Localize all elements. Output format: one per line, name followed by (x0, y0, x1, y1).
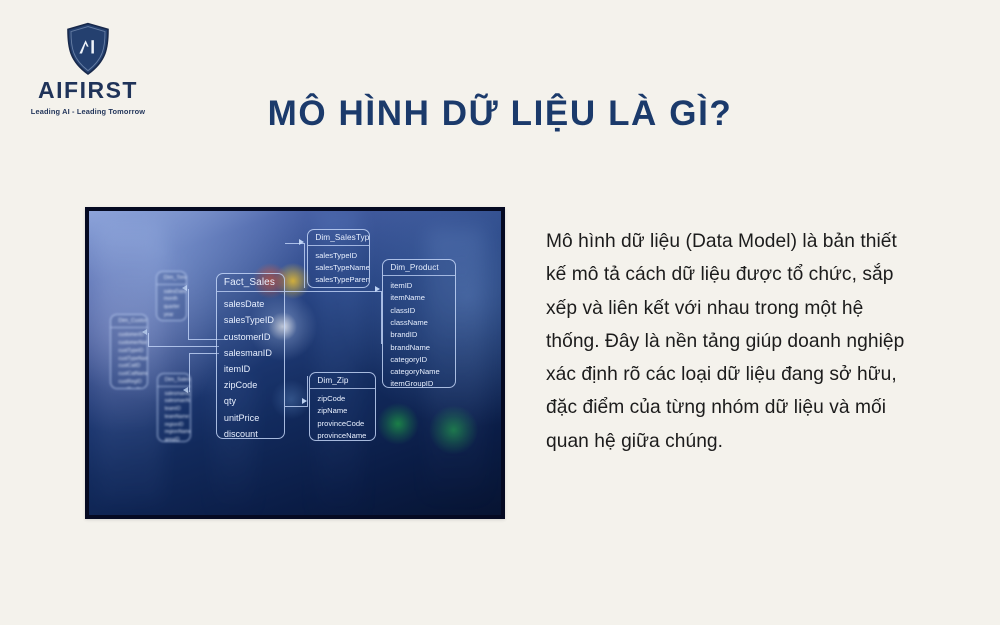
shield-icon (65, 22, 111, 76)
field: categoryName (390, 366, 448, 378)
table-name: Dim_Customer (111, 315, 146, 328)
field: custTypeID (118, 348, 140, 356)
field: qty (224, 393, 278, 409)
table-name: Dim_SalesType (308, 230, 369, 246)
field: month (164, 296, 180, 304)
table-fields: itemID itemName classID className brandI… (383, 276, 454, 388)
field: salesTypeParentID (315, 274, 363, 286)
table-name: Dim_Time (157, 272, 186, 285)
field: className (390, 317, 448, 329)
field: quarter (164, 304, 180, 312)
relation-arrow (302, 398, 307, 404)
table-dim-customer: Dim_Customer customerID customerName cus… (110, 314, 147, 388)
field: zipCode (317, 393, 369, 405)
field: classID (390, 305, 448, 317)
field: regionName (165, 429, 185, 437)
field: salesmanID (165, 391, 185, 399)
field: custTypeName (118, 356, 140, 364)
field: salesmanID (224, 345, 278, 361)
field: brandName (390, 342, 448, 354)
field: zipCode (224, 377, 278, 393)
field: salesDate (224, 296, 278, 312)
diagram-figure: Fact_Sales salesDate salesTypeID custome… (85, 207, 505, 519)
field: salesDate (164, 289, 180, 297)
relation-line (285, 243, 306, 287)
field: custRegID (118, 379, 140, 387)
table-fields: salesDate month quarter year (157, 285, 186, 321)
field: itemID (224, 361, 278, 377)
field: zipName (317, 405, 369, 417)
field: customerID (224, 329, 278, 345)
table-fields: salesmanID salesmanName teamID teamName … (158, 387, 191, 442)
field: regionID (165, 422, 185, 430)
field: teamID (165, 406, 185, 414)
relation-line (285, 291, 382, 345)
field: year (164, 312, 180, 320)
table-name: Dim_Salesman (158, 374, 191, 387)
field: teamName (165, 414, 185, 422)
field: custCatName (118, 371, 140, 379)
field: provinceCode (317, 418, 369, 430)
field: salesTypeID (315, 250, 363, 262)
table-dim-salesman: Dim_Salesman salesmanID salesmanName tea… (157, 373, 192, 442)
field: custCatID (118, 363, 140, 371)
table-dim-zip: Dim_Zip zipCode zipName provinceCode pro… (309, 372, 376, 441)
field: itemName (390, 292, 448, 304)
table-dim-product: Dim_Product itemID itemName classID clas… (382, 259, 455, 388)
field: itemID (390, 280, 448, 292)
table-fact-sales: Fact_Sales salesDate salesTypeID custome… (216, 273, 285, 439)
field: unitPrice (224, 410, 278, 426)
field: salesTypeID (224, 312, 278, 328)
table-fields: salesTypeID salesTypeName salesTypeParen… (308, 246, 369, 288)
table-name: Dim_Product (383, 260, 454, 276)
table-name: Fact_Sales (217, 274, 284, 292)
field: customerName (118, 340, 140, 348)
relation-line (148, 333, 219, 347)
relation-arrow (375, 286, 380, 292)
field: salesmanName (165, 398, 185, 406)
relation-line (189, 353, 219, 391)
field: customerID (118, 332, 140, 340)
table-fields: customerID customerName custTypeID custT… (111, 328, 146, 388)
table-fields: salesDate salesTypeID customerID salesma… (217, 292, 284, 439)
page-title: MÔ HÌNH DỮ LIỆU LÀ GÌ? (0, 95, 1000, 134)
table-fields: zipCode zipName provinceCode provinceNam… (310, 389, 375, 441)
field: areaID (165, 437, 185, 442)
field: discount (224, 426, 278, 439)
relation-arrow (299, 239, 304, 245)
field: salesTypeName (315, 262, 363, 274)
diagram-canvas: Fact_Sales salesDate salesTypeID custome… (89, 211, 501, 515)
field: itemGroupID (390, 378, 448, 388)
table-name: Dim_Zip (310, 373, 375, 389)
field: custRegName (118, 387, 140, 389)
field: categoryID (390, 354, 448, 366)
table-dim-time: Dim_Time salesDate month quarter year (156, 271, 187, 321)
field: brandID (390, 329, 448, 341)
table-dim-salestype: Dim_SalesType salesTypeID salesTypeName … (307, 229, 370, 288)
field: provinceName (317, 430, 369, 441)
body-paragraph: Mô hình dữ liệu (Data Model) là bản thiế… (546, 225, 912, 458)
